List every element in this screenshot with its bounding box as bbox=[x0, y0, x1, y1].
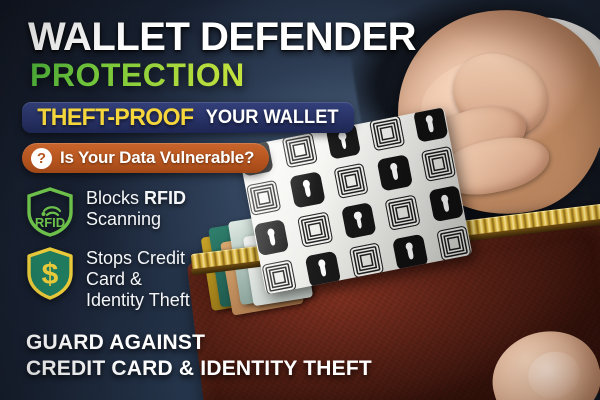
rfid-shield-icon: RFID bbox=[25, 186, 75, 238]
footer-tagline: GUARD AGAINST CREDIT CARD & IDENTITY THE… bbox=[26, 330, 372, 381]
banner-rest-text: YOUR WALLET bbox=[206, 107, 339, 129]
feature-2-line1: Stops Credit bbox=[86, 248, 190, 269]
footer-line-1: GUARD AGAINST bbox=[26, 330, 372, 356]
feature-stops-theft: $ Stops Credit Card & Identity Theft bbox=[25, 246, 190, 311]
footer-line-2: CREDIT CARD & IDENTITY THEFT bbox=[26, 356, 372, 382]
feature-2-line3: Identity Theft bbox=[86, 290, 190, 311]
page-title: WALLET DEFENDER bbox=[28, 18, 416, 57]
subtitle: PROTECTION bbox=[30, 59, 245, 91]
rfid-badge-label: RFID bbox=[35, 215, 65, 230]
feature-1-line2: Scanning bbox=[86, 209, 186, 230]
feature-blocks-rfid: RFID Blocks RFID Scanning bbox=[25, 186, 186, 238]
feature-2-line2: Card & bbox=[86, 269, 190, 290]
advertisement-banner: WALLET DEFENDER PROTECTION THEFT-PROOF Y… bbox=[0, 0, 600, 400]
feature-1-line1-bold: RFID bbox=[144, 188, 186, 208]
theft-proof-banner: THEFT-PROOF YOUR WALLET bbox=[22, 102, 354, 133]
banner-highlight-text: THEFT-PROOF bbox=[37, 104, 193, 132]
data-vulnerable-label: Is Your Data Vulnerable? bbox=[60, 148, 254, 168]
data-vulnerable-pill[interactable]: ? Is Your Data Vulnerable? bbox=[22, 143, 269, 173]
text-overlay: WALLET DEFENDER PROTECTION THEFT-PROOF Y… bbox=[0, 0, 600, 400]
feature-1-line1-prefix: Blocks bbox=[86, 188, 144, 208]
dollar-badge-label: $ bbox=[42, 258, 59, 291]
question-mark-icon: ? bbox=[31, 148, 52, 169]
feature-2-text: Stops Credit Card & Identity Theft bbox=[86, 246, 190, 311]
dollar-shield-icon: $ bbox=[25, 246, 75, 301]
feature-1-text: Blocks RFID Scanning bbox=[86, 186, 186, 230]
